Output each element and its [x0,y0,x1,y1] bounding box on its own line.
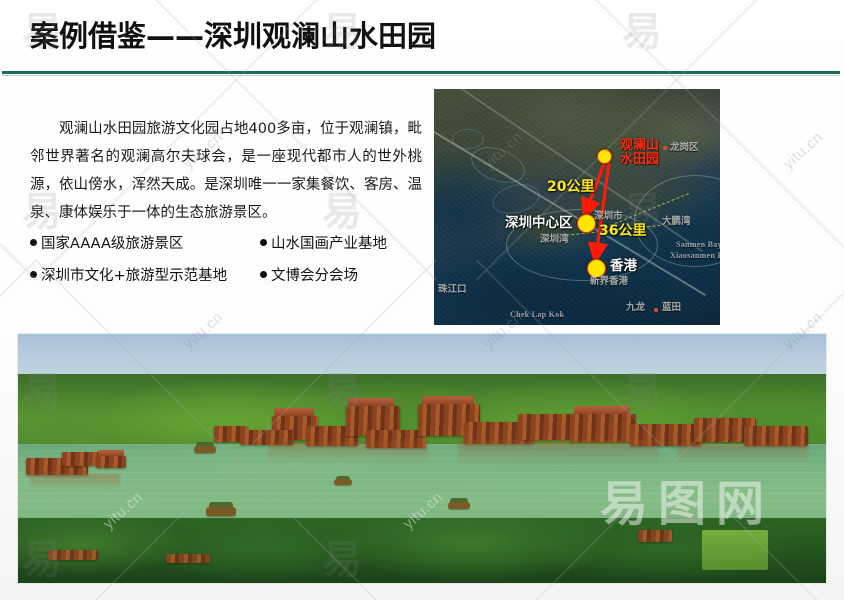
map-place-label-kowloon: 九龙 [626,303,645,313]
photo-boat [448,502,470,509]
watermark-text: yitu.cn [780,129,826,173]
photo-building [48,550,98,560]
map-label-guanlan-line2: 水田园 [620,153,659,167]
map-place-label-xinjie-hongkong: 新界香港 [590,277,628,287]
map-place-label-zhujiangkou: 珠江口 [438,285,467,295]
scenery-photo [18,334,826,583]
bullet-dot-icon [260,271,267,278]
bullet-label: 文博会分会场 [271,264,358,285]
bullet-dot-icon [30,271,37,278]
map-place-label-lantian: 蓝田 [662,303,681,313]
location-map-image: 观澜山 水田园 深圳中心区 香港 20公里 36公里 龙岗区 深圳市 深圳湾 新… [434,89,720,325]
map-label-distance-20km: 20公里 [547,180,594,195]
bullet-dot-icon [260,239,267,246]
title-divider [2,71,840,74]
photo-building [518,414,576,440]
photo-building [96,456,126,468]
map-label-chek-lap-kok: Chek Lap Kok [510,311,564,320]
watermark-glyph: 易 [622,12,662,52]
page-title-block: 案例借鉴——深圳观澜山水田园 [30,13,436,55]
map-label-shenzhen-center: 深圳中心区 [505,216,573,231]
photo-building [744,426,808,446]
bullet-item: 文博会分会场 [260,264,435,285]
bullet-label: 山水国画产业基地 [271,232,387,253]
photo-reflection [458,440,658,466]
map-place-label-shenzhen-bay: 深圳湾 [540,235,569,245]
photo-boat [194,446,216,453]
photo-boat [206,507,236,516]
title-divider-highlight [2,75,840,76]
map-label-sanmen-bay: Sanmen Bay [676,241,720,250]
bullet-label: 深圳市文化+旅游型示范基地 [41,264,227,285]
map-place-label-longgang: 龙岗区 [670,143,699,153]
map-label-guanlan: 观澜山 水田园 [620,139,659,167]
bullet-label: 国家AAAA级旅游景区 [41,232,183,253]
map-node-guanlan[interactable] [597,149,612,164]
photo-building [570,414,636,442]
photo-reflection [30,474,120,490]
map-place-label-shenzhen-city: 深圳市 [594,212,623,222]
feature-bullet-list: 国家AAAA级旅游景区 山水国画产业基地 深圳市文化+旅游型示范基地 文博会分会… [30,226,430,290]
bullet-item: 深圳市文化+旅游型示范基地 [30,264,260,285]
bullet-dot-icon [30,239,37,246]
map-label-xiaosanmen-bay: Xiaosanmen Bay [670,252,720,261]
bullet-item: 国家AAAA级旅游景区 [30,232,260,253]
slide-canvas: 案例借鉴——深圳观澜山水田园 观澜山水田园旅游文化园占地400多亩，位于观澜镇，… [0,0,844,600]
photo-reflection [678,444,808,464]
map-route-arrows [434,89,720,325]
map-place-label-dapeng-bay: 大鹏湾 [662,217,691,227]
map-city-dot-icon [654,308,658,312]
map-label-distance-36km: 36公里 [599,224,646,239]
map-city-dot-icon [663,146,667,150]
description-paragraph: 观澜山水田园旅游文化园占地400多亩，位于观澜镇，毗邻世界著名的观澜高尔夫球会，… [30,115,422,227]
page-title: 案例借鉴——深圳观澜山水田园 [30,13,436,55]
photo-building [638,530,672,542]
photo-boat [334,479,352,485]
photo-reflection [268,442,428,464]
map-label-hongkong: 香港 [610,259,637,274]
map-label-guanlan-line1: 观澜山 [620,139,659,153]
photo-building [166,554,210,563]
bullet-item: 山水国画产业基地 [260,232,435,253]
photo-terrace-field [702,530,768,570]
